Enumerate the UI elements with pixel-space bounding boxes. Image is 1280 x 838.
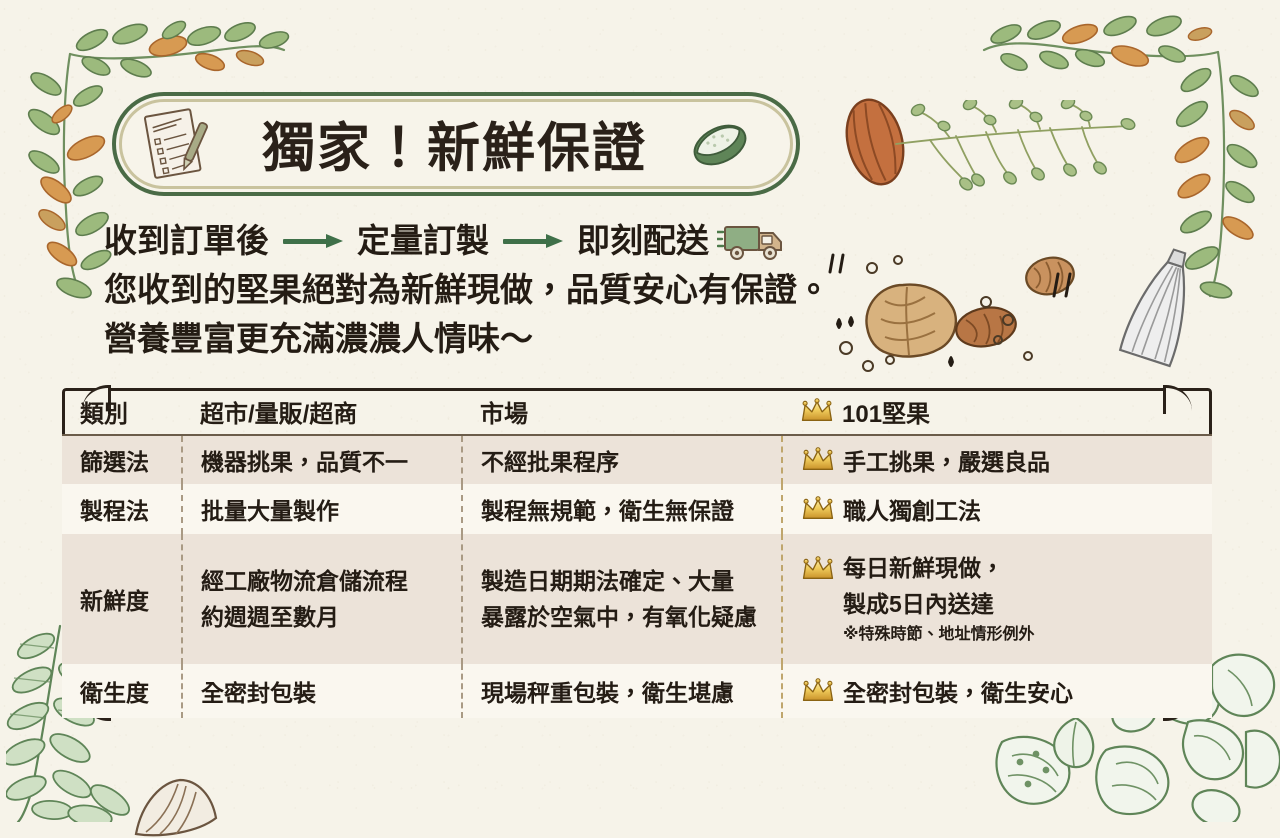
cell-supermarket: 批量大量製作 [182,484,462,533]
cell-category: 衛生度 [62,664,182,718]
walnut-kernel-icon [855,275,965,365]
cell-ours-label: 職人獨創工法 [843,492,981,526]
crumb-dots-icon [830,240,1090,380]
almond-sketch-icon [128,778,224,838]
seed-flake-icon [1046,712,1106,772]
page-title: 獨家！新鮮保證 [262,106,647,182]
col-header-supermarket: 超市/量販/超商 [182,388,462,435]
intro-block: 收到訂單後 定量訂製 即刻配送 您收到的堅果絕對為新鮮現做，品質安心有保證。 營… [104,216,864,363]
leafy-branch-top-right-icon [970,8,1270,308]
cell-market: 現場秤重包裝，衛生堪慮 [462,664,782,718]
cell-ours: 全密封包裝，衛生安心 [782,664,1212,718]
cell-category: 製程法 [62,484,182,533]
crown-icon [801,678,835,704]
crown-icon [801,447,835,473]
cell-line: 製造日期期法確定、大量 [481,565,781,597]
cell-market: 製程無規範，衛生無保證 [462,484,782,533]
crown-icon [801,496,835,522]
cell-ours: 職人獨創工法 [782,484,1212,533]
whisk-icon [1100,240,1220,370]
intro-line-2: 您收到的堅果絕對為新鮮現做，品質安心有保證。 [104,265,864,314]
table-row: 製程法 批量大量製作 製程無規範，衛生無保證 職人獨創工法 [62,484,1212,533]
table-header-row: 類別 超市/量販/超商 市場 10 [62,388,1212,435]
comparison-table: 類別 超市/量販/超商 市場 10 [62,388,1212,718]
title-banner: 獨家！新鮮保證 [112,92,800,196]
delivery-truck-icon [717,219,791,263]
flow-arrow-icon [503,234,563,248]
cell-ours: 手工挑果，嚴選良品 [782,435,1212,484]
cell-supermarket: 經工廠物流倉儲流程 約週週至數月 [182,534,462,665]
table-body: 篩選法 機器挑果，品質不一 不經批果程序 手工挑果，嚴選良品 [62,435,1212,718]
flow-step-3: 即刻配送 [577,216,709,265]
col-header-market: 市場 [462,388,782,435]
crown-icon [800,398,834,424]
cell-ours: 每日新鮮現做， 製成5日內送達 ※特殊時節、地址情形例外 [782,534,1212,665]
cell-ours-label: 全密封包裝，衛生安心 [843,674,1073,708]
table-row: 新鮮度 經工廠物流倉儲流程 約週週至數月 製造日期期法確定、大量 暴露於空氣中，… [62,534,1212,665]
motion-ticks-icon [1050,268,1084,304]
col-header-ours-label: 101堅果 [842,394,930,429]
table-row: 衛生度 全密封包裝 現場秤重包裝，衛生堪慮 全密封包裝，衛生安心 [62,664,1212,718]
cell-supermarket: 全密封包裝 [182,664,462,718]
flow-arrow-icon [283,234,343,248]
cell-footnote: ※特殊時節、地址情形例外 [843,624,1035,646]
cell-ours-label: 手工挑果，嚴選良品 [843,443,1050,477]
cell-market: 不經批果程序 [462,435,782,484]
pecan-piece-icon [950,300,1022,354]
clipboard-checklist-icon [134,106,218,184]
flow-step-1: 收到訂單後 [104,216,269,265]
intro-line-3: 營養豐富更充滿濃濃人情味～ [104,314,864,363]
cell-category: 新鮮度 [62,534,182,665]
cell-line: 約週週至數月 [201,601,461,633]
cell-line: 製成5日內送達 [843,588,1035,620]
cell-category: 篩選法 [62,435,182,484]
cell-line: 暴露於空氣中，有氧化疑慮 [481,601,781,633]
col-header-category: 類別 [62,388,182,435]
pecan-half-icon [832,92,918,192]
cell-line: 經工廠物流倉儲流程 [201,565,461,597]
table-row: 篩選法 機器挑果，品質不一 不經批果程序 手工挑果，嚴選良品 [62,435,1212,484]
cell-line: 每日新鮮現做， [843,552,1035,584]
pecan-piece-icon [1020,250,1080,302]
cell-supermarket: 機器挑果，品質不一 [182,435,462,484]
cell-market: 製造日期期法確定、大量 暴露於空氣中，有氧化疑慮 [462,534,782,665]
crown-icon [801,556,835,582]
comparison-table-frame: 類別 超市/量販/超商 市場 10 [62,388,1212,718]
col-header-ours: 101堅果 [782,388,1212,435]
pistachio-nut-icon [688,114,752,176]
flow-step-2: 定量訂製 [357,216,489,265]
flow-line: 收到訂單後 定量訂製 即刻配送 [104,216,864,265]
willow-sprig-icon [890,100,1180,220]
